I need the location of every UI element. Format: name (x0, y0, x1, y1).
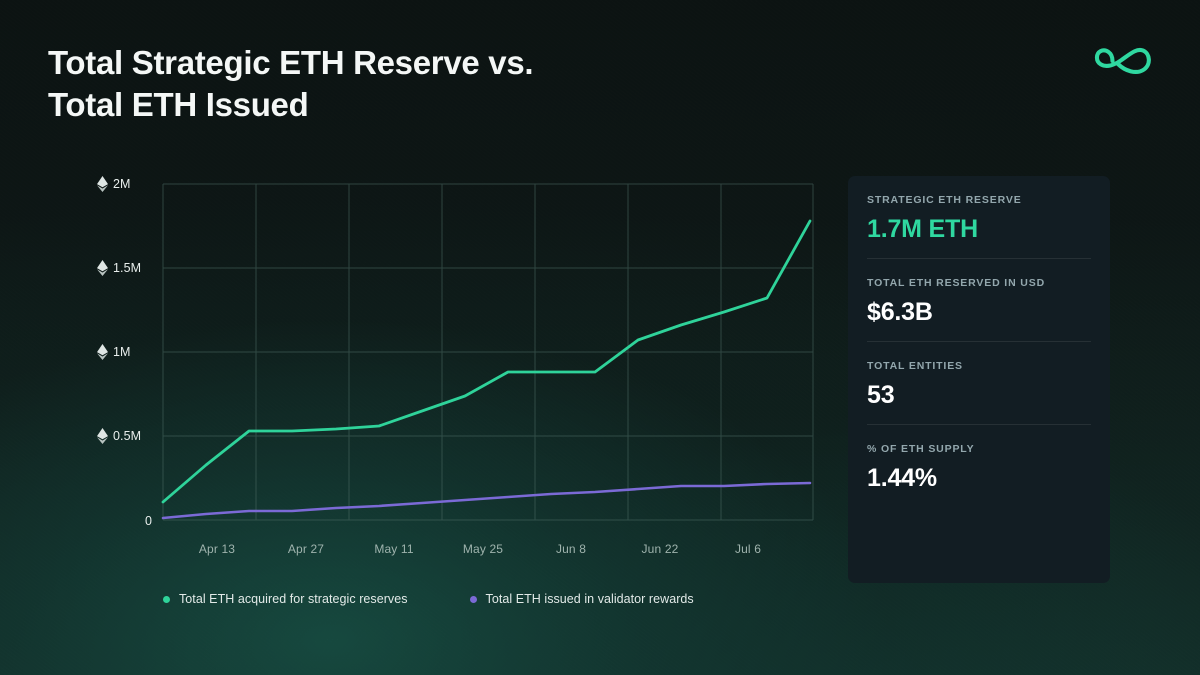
legend-dot-icon (470, 596, 477, 603)
y-axis-tick-label: 1.5M (113, 261, 141, 275)
y-axis-tick-0: 0 (145, 514, 152, 528)
ethereum-diamond-icon (97, 260, 108, 276)
x-axis-tick-6: Jul 6 (735, 542, 761, 556)
y-axis-tick-2m: 2M (97, 176, 131, 192)
legend-item-issued[interactable]: Total ETH issued in validator rewards (470, 592, 694, 606)
stat-label: % of ETH Supply (867, 443, 1091, 455)
stat-total-entities: Total Entities 53 (867, 341, 1091, 424)
y-axis-tick-label: 0.5M (113, 429, 141, 443)
y-axis-tick-label: 0 (145, 514, 152, 528)
x-axis-tick-5: Jun 22 (642, 542, 679, 556)
stat-value: 1.44% (867, 466, 1091, 491)
series-line-eth-reserve (163, 221, 810, 502)
chart-legend: Total ETH acquired for strategic reserve… (163, 592, 694, 606)
stat-total-eth-reserved-usd: Total ETH Reserved in USD $6.3B (867, 258, 1091, 341)
stat-value: 53 (867, 383, 1091, 408)
ethereum-diamond-icon (97, 344, 108, 360)
y-axis-tick-1m: 1M (97, 344, 131, 360)
legend-label: Total ETH issued in validator rewards (486, 592, 694, 606)
y-axis-tick-label: 1M (113, 345, 131, 359)
y-axis-tick-label: 2M (113, 177, 131, 191)
stat-percent-of-eth-supply: % of ETH Supply 1.44% (867, 424, 1091, 507)
stat-label: Total ETH Reserved in USD (867, 277, 1091, 289)
x-axis-tick-3: May 25 (463, 542, 503, 556)
stat-strategic-eth-reserve: Strategic ETH Reserve 1.7M ETH (867, 176, 1091, 258)
y-axis-tick-0-5m: 0.5M (97, 428, 141, 444)
legend-label: Total ETH acquired for strategic reserve… (179, 592, 408, 606)
stat-label: Total Entities (867, 360, 1091, 372)
infinity-logo (1092, 38, 1154, 84)
series-line-eth-issued (163, 483, 810, 518)
chart-plot-svg (0, 0, 860, 675)
x-axis-tick-2: May 11 (374, 542, 413, 556)
stat-value: 1.7M ETH (867, 217, 1091, 242)
x-axis-tick-0: Apr 13 (199, 542, 235, 556)
line-chart: 2M 1.5M 1M 0.5M 0 Apr 13 A (0, 0, 860, 675)
legend-dot-icon (163, 596, 170, 603)
stat-value: $6.3B (867, 300, 1091, 325)
stat-label: Strategic ETH Reserve (867, 194, 1091, 206)
x-axis-tick-1: Apr 27 (288, 542, 324, 556)
x-axis-tick-4: Jun 8 (556, 542, 586, 556)
ethereum-diamond-icon (97, 176, 108, 192)
grid-lines (163, 184, 813, 520)
page-background: Total Strategic ETH Reserve vs. Total ET… (0, 0, 1200, 675)
y-axis-tick-1-5m: 1.5M (97, 260, 141, 276)
ethereum-diamond-icon (97, 428, 108, 444)
stats-panel: Strategic ETH Reserve 1.7M ETH Total ETH… (848, 176, 1110, 583)
legend-item-reserve[interactable]: Total ETH acquired for strategic reserve… (163, 592, 408, 606)
